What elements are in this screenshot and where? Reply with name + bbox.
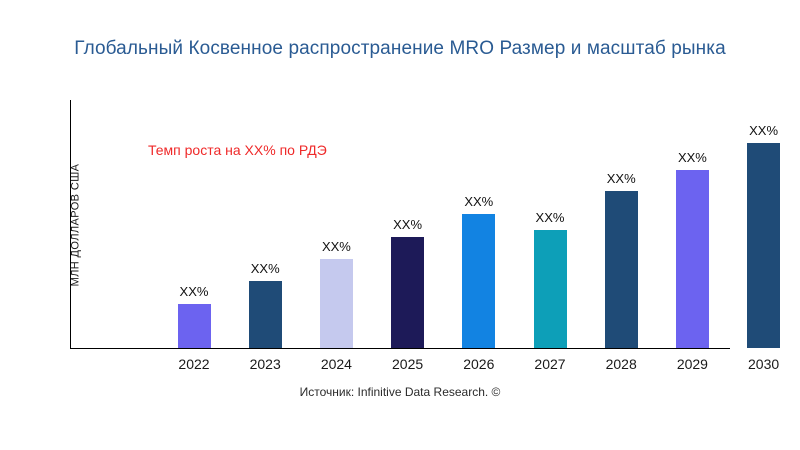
page-title: Глобальный Косвенное распространение MRO… xyxy=(0,38,800,60)
bar-value-label: XX% xyxy=(536,210,565,225)
bar-value-label: XX% xyxy=(251,261,280,276)
bar-value-label: XX% xyxy=(180,284,209,299)
bar-value-label: XX% xyxy=(749,123,778,138)
y-axis-line xyxy=(70,100,71,349)
bar-value-label: XX% xyxy=(464,194,493,209)
bar-2029[interactable]: XX% xyxy=(676,170,709,348)
x-tick-2023: 2023 xyxy=(250,356,281,372)
x-tick-2028: 2028 xyxy=(606,356,637,372)
bar-2023[interactable]: XX% xyxy=(249,281,282,348)
x-axis-line xyxy=(70,348,730,349)
bar-2022[interactable]: XX% xyxy=(178,304,211,348)
plot-area: XX%XX%XX%XX%XX%XX%XX%XX%XX%XX% 202220232… xyxy=(70,100,778,349)
bar-rect xyxy=(391,237,424,348)
bar-rect xyxy=(534,230,567,348)
bar-value-label: XX% xyxy=(607,171,636,186)
bar-2025[interactable]: XX% xyxy=(391,237,424,348)
bar-2026[interactable]: XX% xyxy=(462,214,495,348)
x-tick-2030: 2030 xyxy=(748,356,779,372)
bar-rect xyxy=(462,214,495,348)
bar-rect xyxy=(676,170,709,348)
bar-value-label: XX% xyxy=(322,239,351,254)
x-tick-2025: 2025 xyxy=(392,356,423,372)
bar-value-label: XX% xyxy=(678,150,707,165)
x-tick-2022: 2022 xyxy=(178,356,209,372)
growth-rate-annotation: Темп роста на XX% по РДЭ xyxy=(148,142,327,158)
bar-rect xyxy=(178,304,211,348)
bar-rect xyxy=(249,281,282,348)
bar-2027[interactable]: XX% xyxy=(534,230,567,348)
source-note: Источник: Infinitive Data Research. © xyxy=(0,385,800,399)
bar-rect xyxy=(320,259,353,348)
bar-value-label: XX% xyxy=(393,217,422,232)
bar-rect xyxy=(747,143,780,348)
bar-2030[interactable]: XX% xyxy=(747,143,780,348)
bar-2024[interactable]: XX% xyxy=(320,259,353,348)
x-tick-2027: 2027 xyxy=(534,356,565,372)
bar-rect xyxy=(605,191,638,348)
x-tick-2024: 2024 xyxy=(321,356,352,372)
bar-2028[interactable]: XX% xyxy=(605,191,638,348)
chart-container: Глобальный Косвенное распространение MRO… xyxy=(0,0,800,450)
x-tick-2029: 2029 xyxy=(677,356,708,372)
x-tick-2026: 2026 xyxy=(463,356,494,372)
